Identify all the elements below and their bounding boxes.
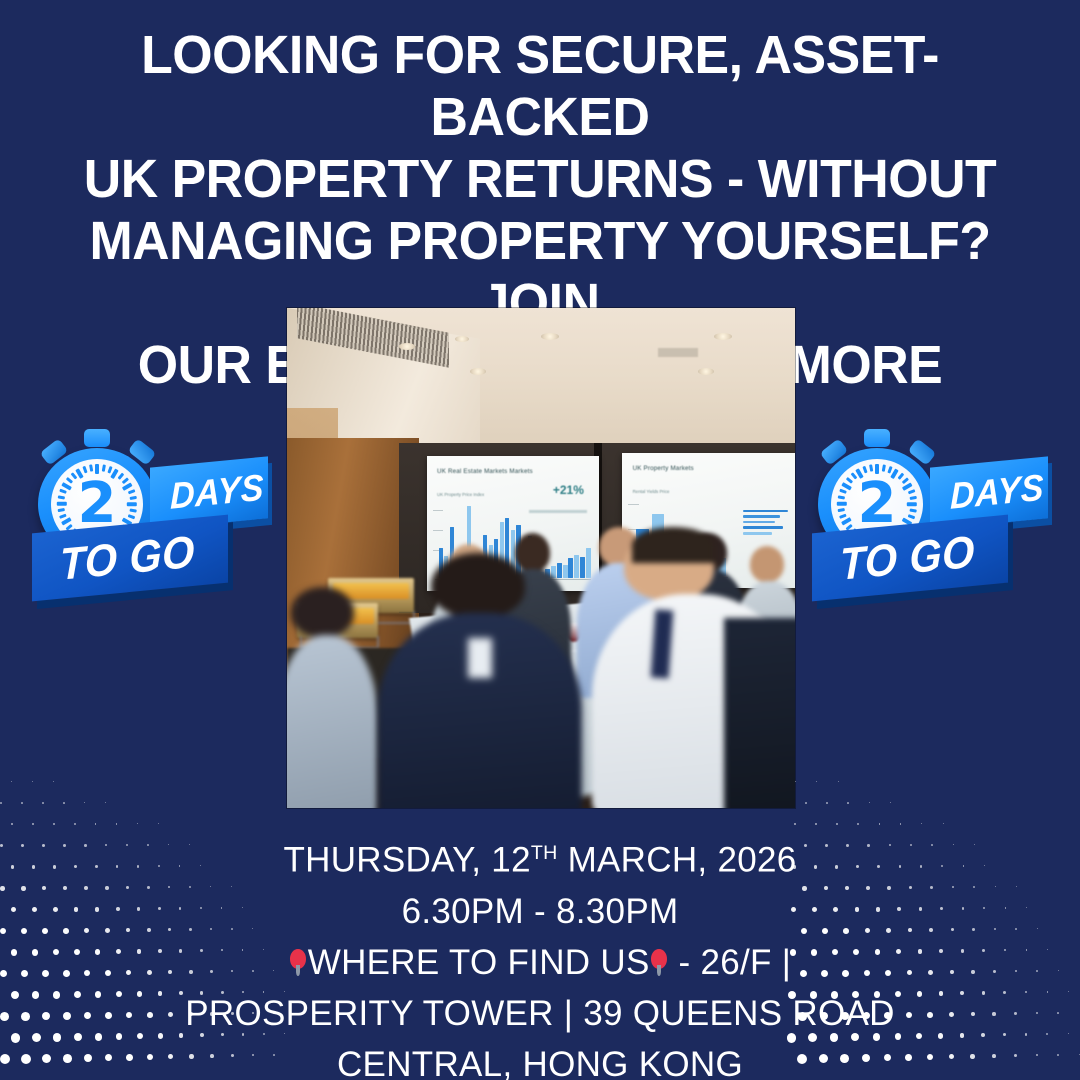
countdown-badge-left: 2 DAYS TO GO xyxy=(22,420,272,620)
photo-person-foreground xyxy=(287,608,378,808)
event-venue-line1: WHERE TO FIND US - 26/F | xyxy=(80,937,1000,988)
photo-person-navy-suit xyxy=(378,573,581,808)
screen-right-legend xyxy=(743,510,788,538)
photo-downlight xyxy=(714,333,732,340)
event-venue-line3: CENTRAL, HONG KONG xyxy=(80,1039,1000,1080)
screen-left-kpi: +21% xyxy=(553,483,584,497)
event-time: 6.30PM - 8.30PM xyxy=(80,886,1000,937)
event-photo: UK Real Estate Markets Markets UK Proper… xyxy=(287,308,795,808)
location-pin-icon xyxy=(651,949,667,976)
days-label: DAYS xyxy=(950,467,1044,518)
poster-canvas: LOOKING FOR SECURE, ASSET-BACKED UK PROP… xyxy=(0,0,1080,1080)
location-pin-icon xyxy=(290,949,306,976)
togo-label: TO GO xyxy=(840,526,975,591)
photo-downlight xyxy=(541,333,559,340)
screen-left-kpi-caption xyxy=(529,510,588,513)
days-label: DAYS xyxy=(170,467,264,518)
photo-downlight xyxy=(455,336,469,342)
event-venue-line2: PROSPERITY TOWER | 39 QUEENS ROAD xyxy=(80,988,1000,1039)
photo-person-dark-suit xyxy=(724,618,795,808)
togo-label: TO GO xyxy=(60,526,195,591)
photo-downlight xyxy=(470,368,486,375)
screen-right-title: UK Property Markets xyxy=(633,465,694,472)
screen-right-subtitle: Rental Yields Price xyxy=(633,489,670,494)
photo-downlight xyxy=(399,343,415,350)
screen-left-title: UK Real Estate Markets Markets xyxy=(437,468,533,475)
event-date: THURSDAY, 12TH MARCH, 2026 xyxy=(80,828,1000,886)
photo-ceiling-vent xyxy=(658,348,698,357)
screen-left-subtitle: UK Property Price Index xyxy=(437,492,484,497)
countdown-badge-right: 2 DAYS TO GO xyxy=(802,420,1052,620)
event-details: THURSDAY, 12TH MARCH, 2026 6.30PM - 8.30… xyxy=(0,828,1080,1080)
